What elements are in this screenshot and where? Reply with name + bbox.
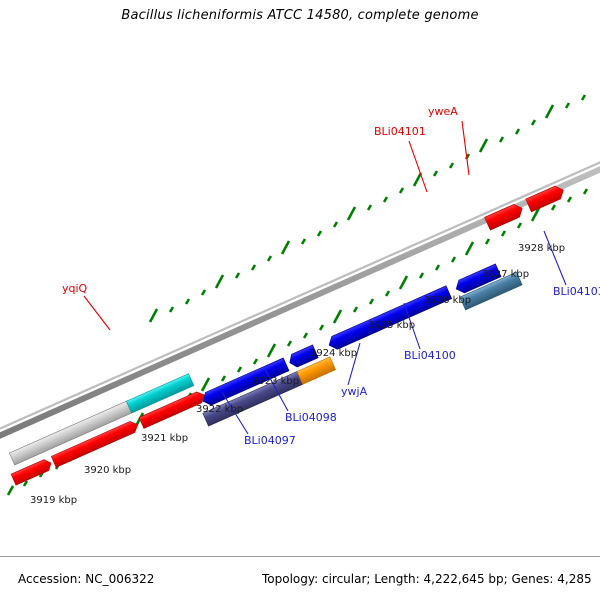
leader-BLi04101: [409, 141, 427, 192]
ruler-tick-label: 3926 kbp: [424, 295, 471, 306]
gene-label-BLi04101[interactable]: BLi04101: [374, 125, 426, 138]
accession-text: Accession: NC_006322: [18, 572, 154, 586]
ruler-tick-label: 3924 kbp: [310, 348, 357, 359]
gene-label-ywjA[interactable]: ywjA: [341, 385, 368, 398]
ruler-tick-label: 3923 kbp: [252, 376, 299, 387]
gene-label-yqiQ[interactable]: yqiQ: [62, 282, 88, 295]
ruler-tick-label: 3925 kbp: [368, 320, 415, 331]
topology-text: Topology: circular; Length: 4,222,645 bp…: [262, 572, 592, 586]
ruler-tick-label: 3927 kbp: [482, 269, 529, 280]
reverse-gene-group[interactable]: [200, 138, 600, 408]
ruler-tick-label: 3921 kbp: [141, 433, 188, 444]
ruler-tick-label: 3928 kbp: [518, 243, 565, 254]
genome-backbone[interactable]: [0, 158, 600, 440]
gene-label-BLi04098[interactable]: BLi04098: [285, 411, 337, 424]
gene-label-yweA[interactable]: yweA: [428, 105, 458, 118]
footer-divider: [0, 556, 600, 557]
gene-label-BLi04097[interactable]: BLi04097: [244, 434, 296, 447]
gene-label-BLi04103[interactable]: BLi04103: [553, 285, 600, 298]
gene-label-BLi04100[interactable]: BLi04100: [404, 349, 456, 362]
ruler-tick-label: 3919 kbp: [30, 495, 77, 506]
genome-map-page: Bacillus licheniformis ATCC 14580, compl…: [0, 0, 600, 600]
ruler-tick-label: 3922 kbp: [196, 404, 243, 415]
leader-yqiQ: [84, 296, 110, 330]
ruler-tick-label: 3920 kbp: [84, 465, 131, 476]
leader-BLi04103: [544, 231, 566, 285]
leader-yweA: [462, 121, 469, 175]
genome-map-canvas[interactable]: yqiQ BLi04101 yweA BLi04097 BLi04098 ywj…: [0, 0, 600, 600]
